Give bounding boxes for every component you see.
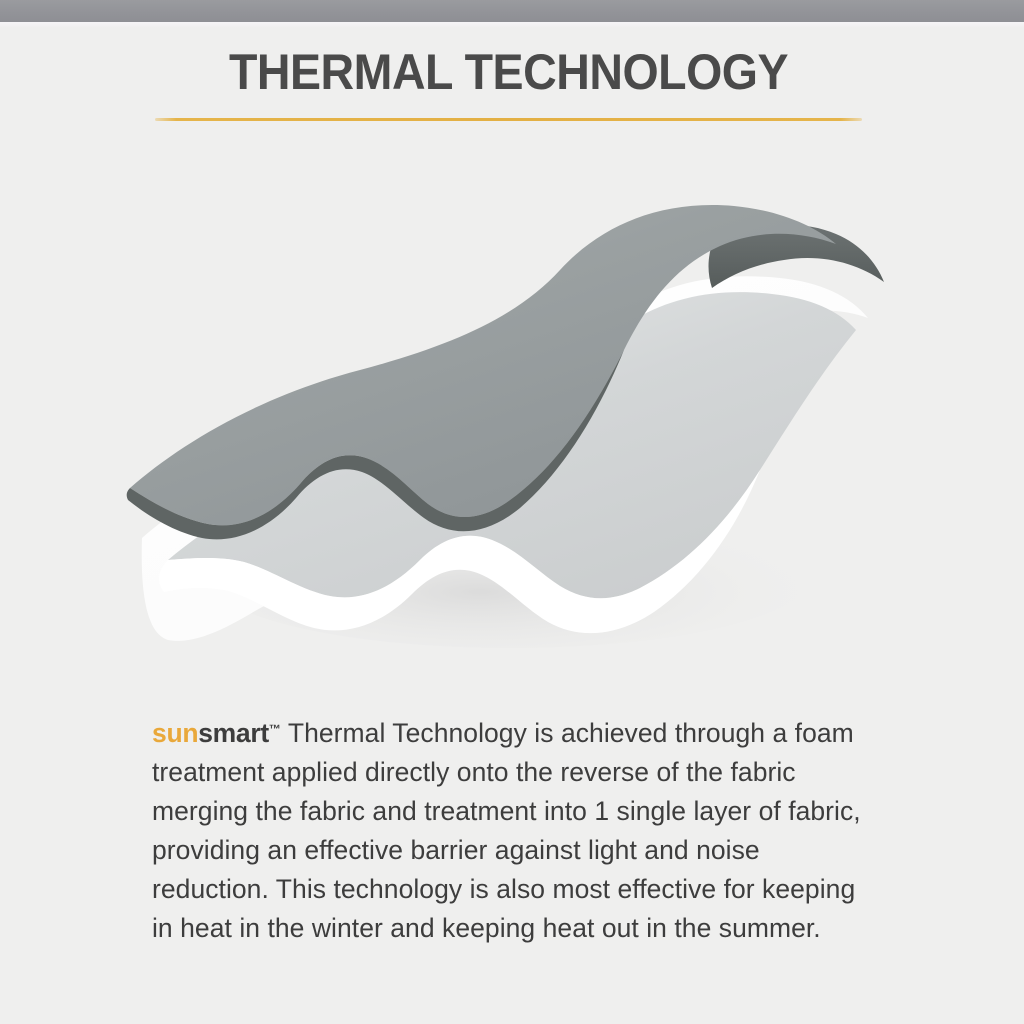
header: THERMAL TECHNOLOGY: [155, 42, 862, 121]
title-divider-rule: [155, 118, 862, 121]
page-content: THERMAL TECHNOLOGY: [0, 28, 1024, 1024]
brand-smart-text: smart: [198, 718, 269, 748]
fabric-illustration-svg: [120, 178, 920, 648]
browser-top-band: [0, 0, 1024, 22]
fabric-layers-illustration: [120, 178, 920, 648]
brand-sun-text: sun: [152, 718, 198, 748]
trademark-symbol: ™: [269, 722, 281, 736]
description-paragraph: sunsmart™ Thermal Technology is achieved…: [152, 710, 868, 948]
sunsmart-brand-logo: sunsmart™: [152, 718, 281, 748]
page-title: THERMAL TECHNOLOGY: [180, 42, 838, 102]
description-body-text: Thermal Technology is achieved through a…: [152, 718, 861, 943]
